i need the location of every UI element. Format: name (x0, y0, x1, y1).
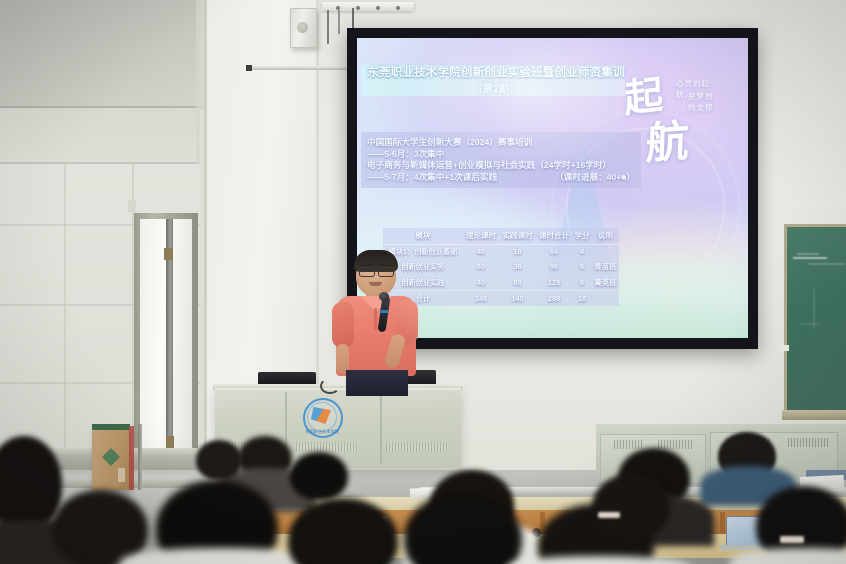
eraser (780, 345, 789, 351)
table-cell: 4 (572, 244, 591, 259)
hanging-wire (327, 10, 329, 44)
table-cell: 6 (572, 259, 591, 275)
hair-clip (598, 512, 620, 518)
table-header-cell: 模块 (383, 228, 463, 244)
presenter-mouth (369, 282, 382, 286)
table-cell: 148 (463, 291, 500, 306)
wall-rail (246, 66, 356, 70)
presenter (330, 250, 422, 396)
table-header-cell: 说明 (592, 228, 619, 244)
table-cell: 36 (499, 259, 536, 275)
cardboard-box-top (92, 424, 130, 430)
podium-vent (386, 442, 448, 452)
table-header-cell: 实践课时 (499, 228, 536, 244)
presenter-brow-left (360, 264, 372, 266)
table-cell (592, 244, 619, 259)
calligraphy-tagline-2: 是梦想的支撑 (688, 91, 714, 113)
table-header-cell: 课时合计 (536, 228, 573, 244)
table-cell: 88 (499, 275, 536, 291)
cabinet-vent (614, 440, 644, 449)
presenter-brow-right (379, 264, 391, 266)
door-hinge-lower (166, 436, 174, 448)
foreground-head (52, 490, 148, 564)
wall-rail-endcap (246, 65, 252, 71)
cabinet-vent (658, 440, 694, 449)
upper-left-wall-panel-2 (0, 108, 200, 164)
metal-pole (138, 424, 142, 490)
table-cell: 青苗班 (592, 259, 619, 275)
microphone-head (379, 292, 389, 301)
table-header-row: 模块 理论课时 实践课时 课时合计 学分 说明 (383, 228, 619, 244)
track-light-bar (322, 2, 414, 11)
table-cell: 18 (572, 291, 591, 306)
microphone-band (380, 310, 388, 313)
table-header-cell: 学分 (572, 228, 591, 244)
table-cell: 128 (536, 275, 573, 291)
student-head (290, 452, 348, 500)
green-chalkboard (784, 224, 846, 419)
table-cell: 8 (572, 275, 591, 291)
emblem-label: 东莞职业技术学院 (300, 429, 344, 435)
table-cell (592, 291, 619, 306)
presenter-placket (374, 308, 377, 330)
table-header-cell: 理论课时 (463, 228, 500, 244)
chalk-ledge (782, 410, 846, 420)
podium-seam (380, 392, 382, 464)
slide-body-progress: （课时进展：40+■） (555, 172, 635, 184)
table-cell: 菁英班 (592, 275, 619, 291)
door-header-trim (128, 200, 136, 212)
hanging-wire-2 (338, 10, 340, 34)
box-edge-strip (129, 426, 134, 490)
table-cell: 48 (463, 244, 500, 259)
podium-vent (296, 442, 358, 452)
desk-slat (720, 512, 725, 534)
foreground-head (592, 474, 670, 540)
table-cell: 64 (536, 244, 573, 259)
speaker-cone (297, 22, 308, 33)
door-hinge (164, 248, 173, 260)
lecture-hall-photo: 起 航 心灵的起航， 是梦想的支撑 东莞职业技术学院创新创业实验班暨创业师资集训… (0, 0, 846, 564)
projector-hotspot (404, 38, 654, 173)
slide-body-text: ——5-7月：4次集中+1次课后实践 (367, 172, 497, 182)
presenter-sleeve-left (332, 302, 354, 348)
box-label (118, 468, 125, 482)
glasses-bridge (372, 270, 379, 272)
glasses-lens-left (359, 267, 375, 277)
table-cell: 288 (536, 291, 573, 306)
slide-body-line: ——5-7月：4次集中+1次课后实践 （课时进展：40+■） (367, 172, 635, 184)
presenter-trousers (346, 370, 408, 396)
table-cell: 60 (463, 259, 500, 275)
table-cell: 16 (499, 244, 536, 259)
screen-hanging-wire (352, 8, 354, 30)
wall-edge-right (316, 0, 319, 430)
table-cell: 140 (499, 291, 536, 306)
cabinet-vent (788, 438, 828, 447)
table-cell: 96 (536, 259, 573, 275)
student-head (196, 440, 242, 480)
hair-clip (780, 536, 804, 543)
wall-edge-left (204, 0, 207, 470)
table-cell: 40 (463, 275, 500, 291)
glasses-lens-right (378, 267, 394, 277)
